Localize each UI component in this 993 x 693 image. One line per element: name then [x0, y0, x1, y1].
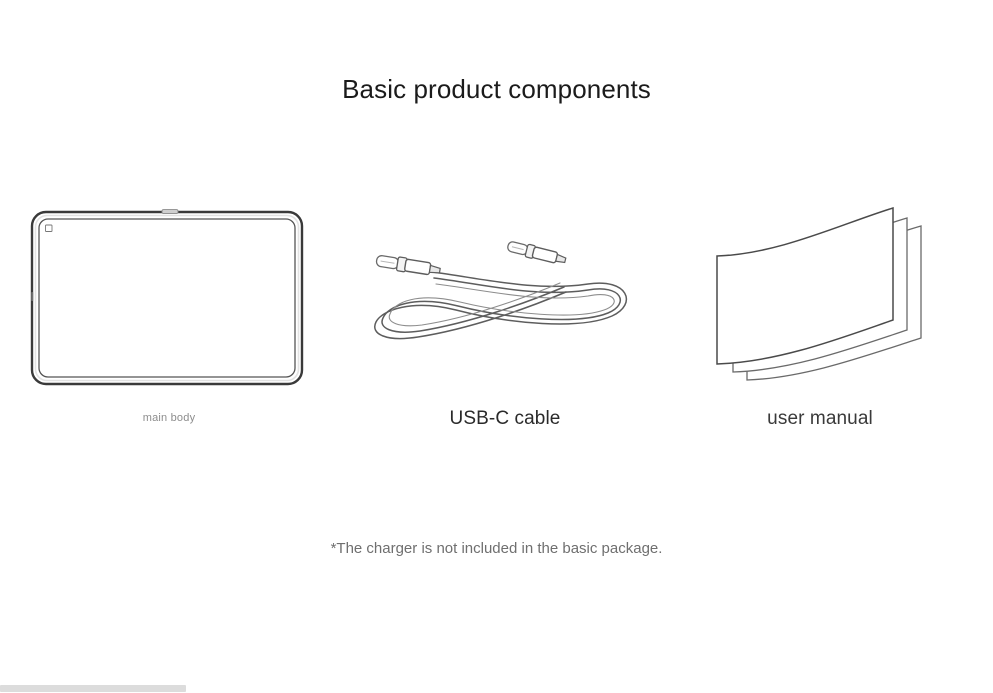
component-user-manual: [695, 200, 945, 390]
cable-connector-right-icon: [506, 239, 566, 266]
footnote-charger-not-included: *The charger is not included in the basi…: [0, 540, 993, 557]
component-label-main-body: main body: [24, 412, 314, 424]
component-main-body: [24, 200, 324, 440]
component-label-user-manual: user manual: [690, 408, 950, 430]
horizontal-scrollbar-thumb[interactable]: [0, 685, 186, 692]
horizontal-scrollbar[interactable]: [0, 684, 993, 693]
cable-connector-left-icon: [376, 253, 441, 277]
component-label-usb-c-cable: USB-C cable: [360, 408, 650, 430]
usb-c-cable-icon: [360, 230, 650, 350]
tablet-device-icon: [24, 200, 324, 400]
user-manual-icon: [695, 200, 945, 390]
page-title: Basic product components: [0, 72, 993, 106]
product-components-page: Basic product components main body: [0, 0, 993, 693]
component-usb-c-cable: [360, 230, 660, 360]
